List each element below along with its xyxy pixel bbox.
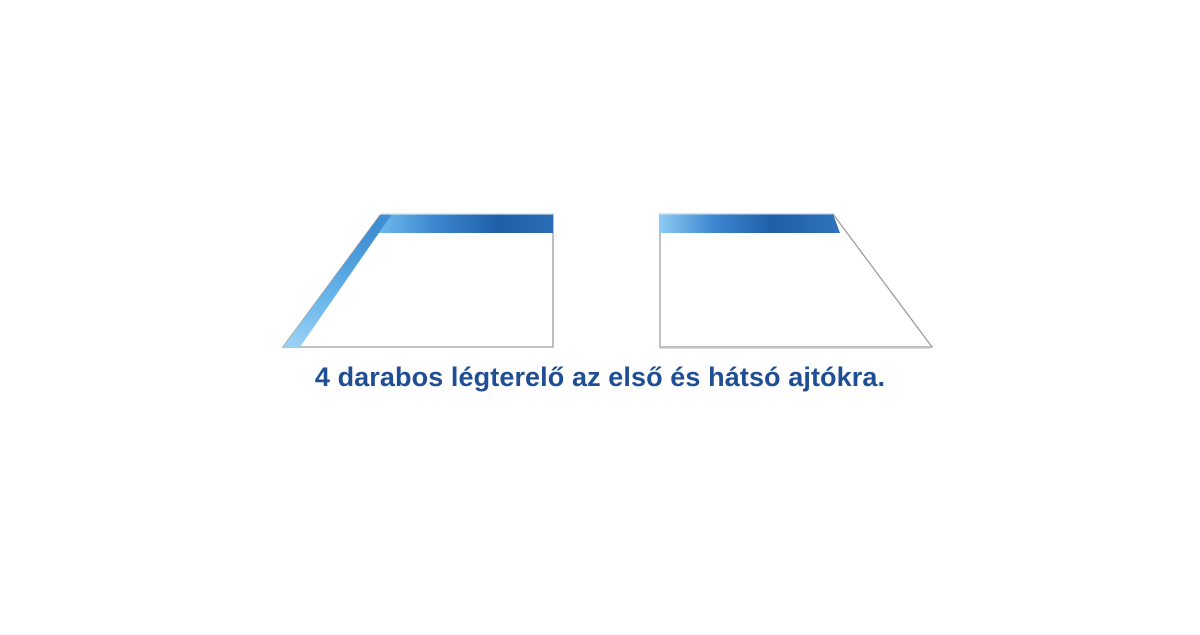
rear-deflector-body [660, 214, 932, 347]
front-door-deflector-shape [281, 214, 553, 349]
caption-text: 4 darabos légterelő az első és hátsó ajt… [0, 362, 1200, 393]
diagram-canvas: 4 darabos légterelő az első és hátsó ajt… [0, 0, 1200, 630]
front-deflector-top-tint [374, 214, 553, 233]
wind-deflector-figure [0, 0, 1200, 630]
rear-door-deflector-shape [660, 214, 932, 348]
wind-deflector-svg [0, 0, 1200, 630]
front-deflector-body [283, 214, 553, 347]
rear-deflector-top-tint [660, 214, 840, 233]
